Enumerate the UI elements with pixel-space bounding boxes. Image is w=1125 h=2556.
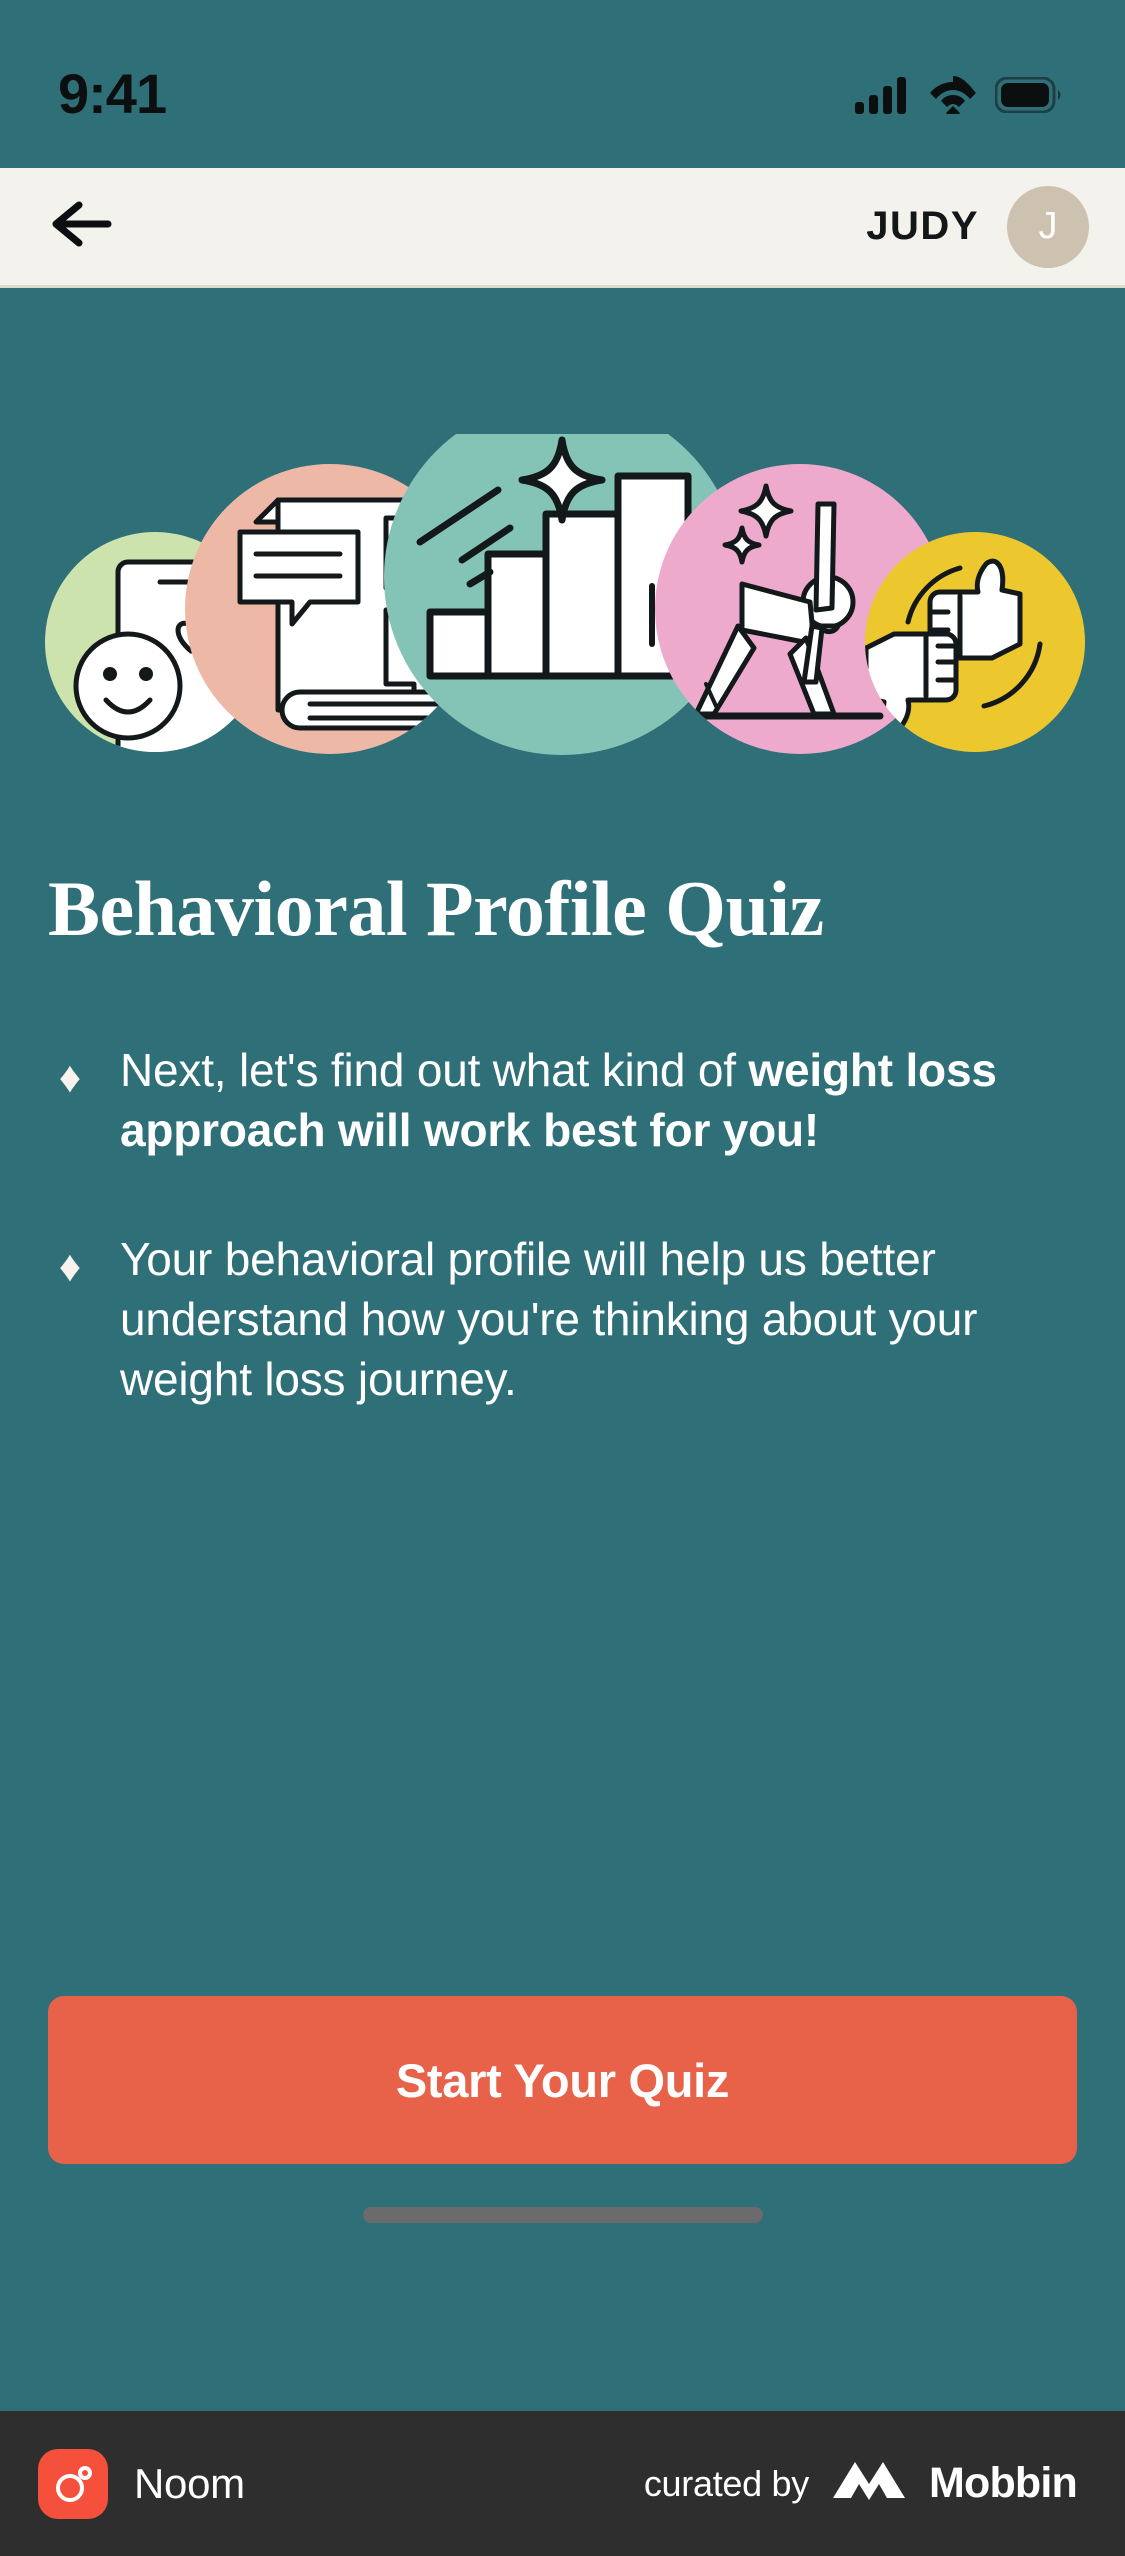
arrow-left-icon (52, 199, 112, 254)
status-bar: 9:41 (0, 0, 1125, 168)
noom-logo-icon (38, 2449, 108, 2519)
footer-app-name: Noom (134, 2460, 245, 2508)
diamond-bullet-icon: ♦ (48, 1056, 92, 1100)
avatar[interactable]: J (1007, 186, 1089, 268)
bullet-text-1: Next, let's find out what kind of weight… (120, 1040, 1040, 1161)
battery-icon (995, 77, 1063, 113)
main-content: Behavioral Profile Quiz ♦ Next, let's fi… (0, 291, 1125, 2411)
footer-bar: Noom curated by Mobbin (0, 2411, 1125, 2556)
footer-credit: curated by Mobbin (644, 2456, 1077, 2511)
mobbin-logo-icon (831, 2456, 907, 2511)
feedback-circle (865, 532, 1085, 752)
bullet-1-lead: Next, let's find out what kind of (120, 1044, 748, 1096)
footer-app: Noom (38, 2449, 245, 2519)
wifi-icon (927, 76, 979, 114)
start-quiz-button[interactable]: Start Your Quiz (48, 1996, 1077, 2164)
status-bar-icons (855, 76, 1063, 114)
list-item: ♦ Next, let's find out what kind of weig… (48, 1040, 1048, 1161)
cellular-signal-icon (855, 76, 911, 114)
diamond-bullet-icon: ♦ (48, 1245, 92, 1289)
nav-user-area[interactable]: JUDY J (866, 186, 1089, 268)
hero-illustration (0, 434, 1125, 764)
list-item: ♦ Your behavioral profile will help us b… (48, 1229, 1048, 1410)
footer-curated-label: curated by (644, 2463, 809, 2505)
back-button[interactable] (40, 185, 124, 269)
home-indicator[interactable] (363, 2207, 763, 2223)
page-title: Behavioral Profile Quiz (48, 870, 1125, 948)
nav-bar: JUDY J (0, 168, 1125, 288)
footer-brand-name: Mobbin (929, 2459, 1077, 2508)
nav-user-name: JUDY (866, 204, 979, 249)
status-bar-time: 9:41 (58, 61, 166, 126)
bullet-list: ♦ Next, let's find out what kind of weig… (48, 1040, 1048, 1409)
bullet-text-2: Your behavioral profile will help us bet… (120, 1229, 1040, 1410)
